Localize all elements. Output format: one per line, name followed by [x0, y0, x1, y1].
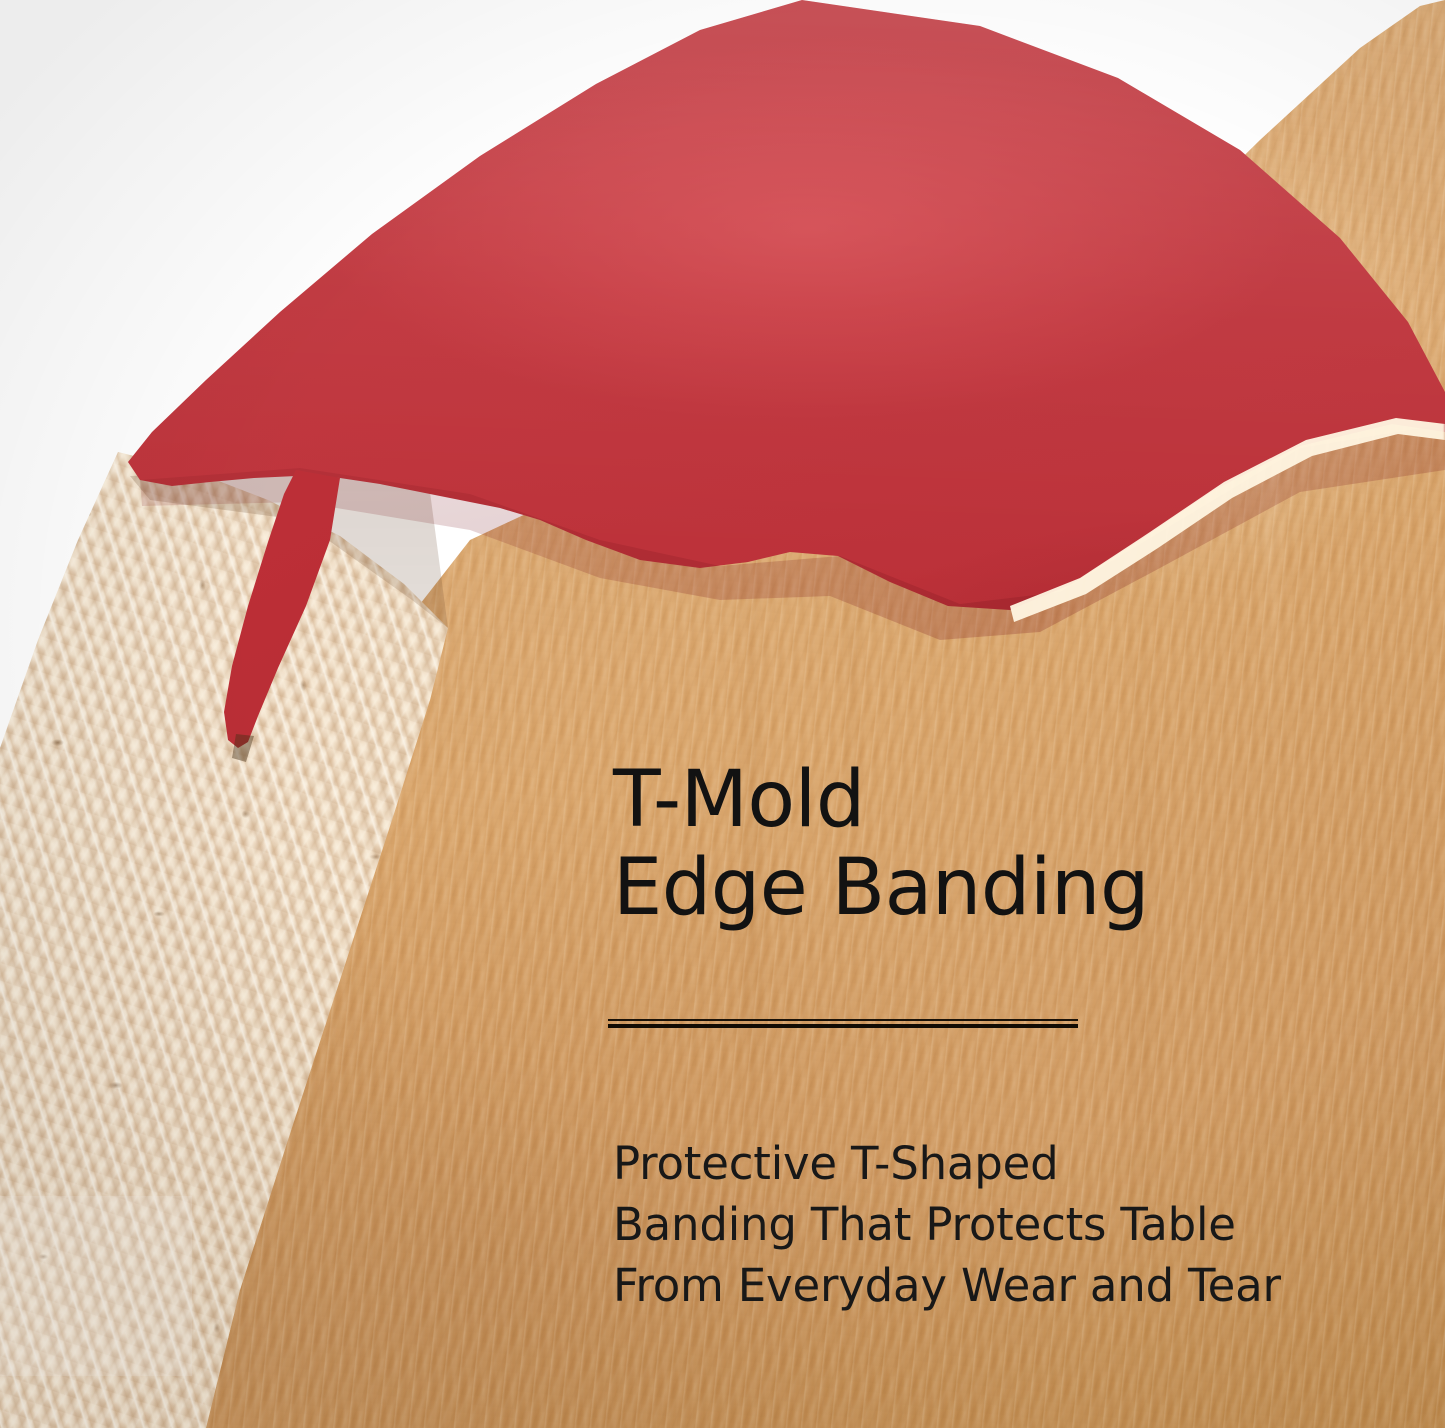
page-title: T-Mold Edge Banding — [613, 756, 1373, 932]
divider-rule-thin — [608, 1019, 1078, 1021]
particleboard-light-patch — [0, 1196, 192, 1376]
divider-rule-thick — [608, 1024, 1078, 1028]
product-marketing-image: T-Mold Edge Banding Protective T-Shaped … — [0, 0, 1445, 1428]
feature-description: Protective T-Shaped Banding That Protect… — [613, 1133, 1383, 1317]
divider — [608, 1019, 1078, 1028]
headline-block: T-Mold Edge Banding — [613, 756, 1373, 932]
